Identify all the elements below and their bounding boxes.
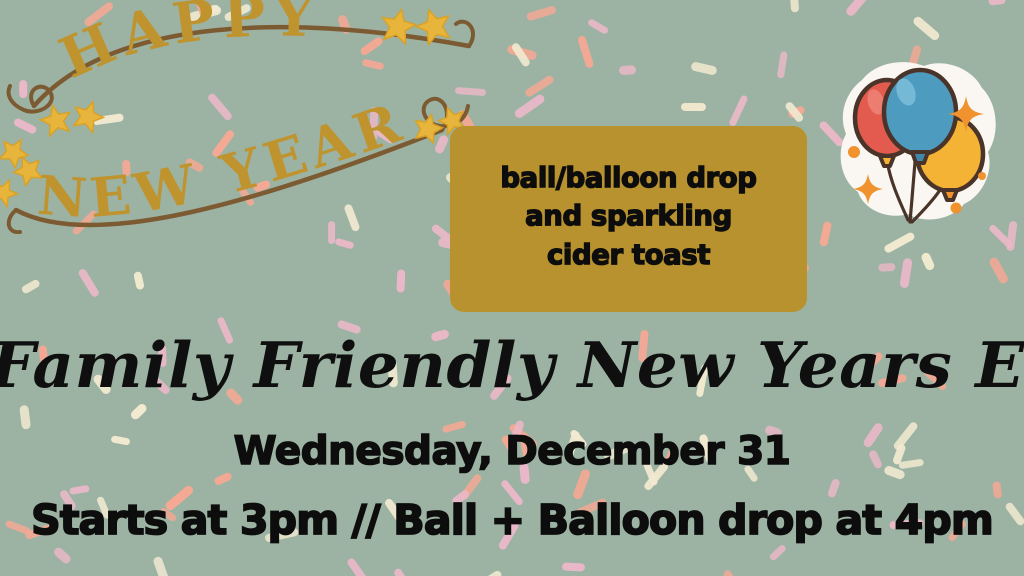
happy-new-year-banner: HAPPY NEW YEAR bbox=[0, 0, 494, 234]
page-title: Family Friendly New Years Eve! bbox=[0, 334, 1024, 397]
confetti-sprinkle bbox=[525, 4, 556, 21]
confetti-sprinkle bbox=[586, 18, 609, 35]
banner-line1-letters: HAPPY bbox=[50, 0, 321, 92]
confetti-sprinkle bbox=[472, 569, 504, 576]
info-line-2: and sparkling bbox=[525, 203, 732, 231]
info-line-3: cider toast bbox=[547, 242, 710, 270]
confetti-sprinkle bbox=[878, 263, 896, 272]
balloons-sticker bbox=[832, 56, 1004, 228]
confetti-sprinkle bbox=[506, 44, 537, 60]
confetti-sprinkle bbox=[988, 256, 1009, 284]
confetti-sprinkle bbox=[988, 0, 1005, 5]
confetti-sprinkle bbox=[768, 543, 787, 561]
confetti-sprinkle bbox=[513, 93, 546, 119]
confetti-sprinkle bbox=[577, 35, 595, 69]
confetti-sprinkle bbox=[562, 562, 585, 571]
confetti-sprinkle bbox=[396, 269, 405, 293]
confetti-sprinkle bbox=[790, 0, 799, 13]
confetti-sprinkle bbox=[920, 251, 935, 271]
confetti-sprinkle bbox=[346, 557, 369, 576]
confetti-sprinkle bbox=[1006, 221, 1017, 251]
confetti-sprinkle bbox=[153, 555, 172, 576]
confetti-sprinkle bbox=[20, 405, 32, 430]
confetti-sprinkle bbox=[213, 471, 233, 486]
confetti-sprinkle bbox=[845, 0, 871, 17]
confetti-sprinkle bbox=[900, 258, 913, 289]
confetti-sprinkle bbox=[728, 94, 748, 127]
confetti-sprinkle bbox=[691, 61, 718, 75]
confetti-sprinkle bbox=[618, 66, 635, 75]
confetti-sprinkle bbox=[133, 271, 144, 291]
svg-text:HAPPY: HAPPY bbox=[50, 0, 321, 92]
confetti-sprinkle bbox=[776, 51, 787, 78]
confetti-sprinkle bbox=[393, 567, 416, 576]
confetti-sprinkle bbox=[524, 73, 556, 97]
confetti-sprinkle bbox=[681, 103, 706, 111]
confetti-sprinkle bbox=[77, 268, 101, 299]
poster-canvas: HAPPY NEW YEAR ball/balloon drop and spa… bbox=[0, 0, 1024, 576]
confetti-sprinkle bbox=[784, 100, 804, 122]
confetti-sprinkle bbox=[68, 484, 89, 495]
confetti-sprinkle bbox=[722, 568, 742, 576]
confetti-sprinkle bbox=[334, 237, 354, 249]
confetti-sprinkle bbox=[20, 279, 41, 295]
confetti-sprinkle bbox=[511, 42, 532, 68]
confetti-sprinkle bbox=[992, 481, 1002, 499]
confetti-sprinkle bbox=[912, 15, 941, 42]
confetti-sprinkle bbox=[130, 402, 149, 421]
event-times: Starts at 3pm // Ball + Balloon drop at … bbox=[0, 500, 1024, 541]
event-date: Wednesday, December 31 bbox=[0, 432, 1024, 471]
confetti-sprinkle bbox=[819, 220, 832, 246]
info-line-1: ball/balloon drop bbox=[500, 165, 756, 193]
confetti-sprinkle bbox=[883, 232, 916, 254]
confetti-sprinkle bbox=[53, 546, 73, 565]
event-highlights-box: ball/balloon drop and sparkling cider to… bbox=[450, 126, 807, 312]
confetti-sprinkle bbox=[787, 105, 806, 119]
